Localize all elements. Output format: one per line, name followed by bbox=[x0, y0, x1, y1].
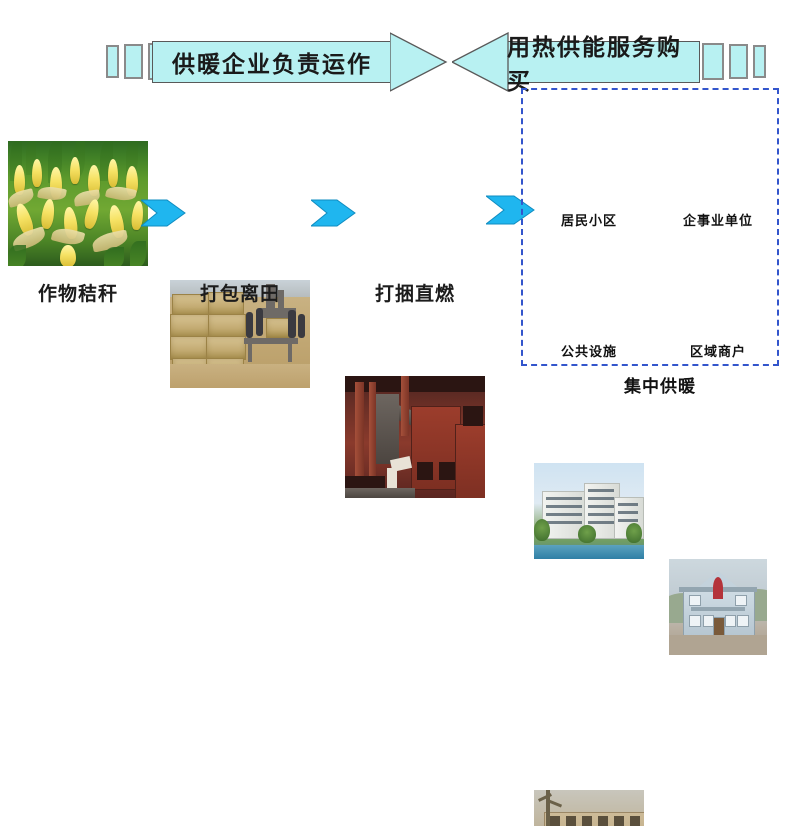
caption-commercial-shops: 区域商户 bbox=[669, 341, 767, 360]
banner-left-arrowhead bbox=[390, 32, 450, 92]
banner-heat-purchase: 用热供能服务购买 bbox=[455, 41, 700, 83]
caption-centralized-heating: 集中供暖 bbox=[570, 372, 750, 397]
photo-residential-apartments bbox=[534, 463, 644, 559]
photo-public-facility bbox=[534, 790, 644, 826]
banner-right-arrowhead bbox=[452, 32, 512, 92]
caption-baling-removal: 打包离田 bbox=[170, 279, 310, 306]
decor-square-left-2 bbox=[124, 44, 143, 79]
banner-right-label: 用热供能服务购买 bbox=[507, 41, 700, 83]
caption-public-facility: 公共设施 bbox=[534, 341, 644, 360]
photo-direct-burning bbox=[345, 376, 485, 498]
banner-left-label: 供暖企业负责运作 bbox=[152, 41, 392, 83]
caption-direct-burning: 打捆直燃 bbox=[345, 279, 485, 306]
arrow-step-1-to-2 bbox=[141, 196, 187, 230]
banner-heating-operator: 供暖企业负责运作 bbox=[152, 41, 442, 83]
caption-crop-straw: 作物秸秆 bbox=[8, 279, 148, 306]
caption-residential-apartments: 居民小区 bbox=[534, 210, 644, 229]
photo-crop-straw bbox=[8, 141, 148, 266]
decor-square-right-1 bbox=[702, 43, 724, 80]
decor-square-right-3 bbox=[753, 45, 766, 78]
caption-institution-building: 企事业单位 bbox=[669, 210, 767, 229]
arrow-step-2-to-3 bbox=[311, 196, 357, 230]
decor-square-left-1 bbox=[106, 45, 119, 78]
decor-square-right-2 bbox=[729, 44, 748, 79]
diagram-canvas: 供暖企业负责运作 用热供能服务购买 bbox=[0, 0, 797, 413]
photo-institution-building bbox=[669, 559, 767, 655]
